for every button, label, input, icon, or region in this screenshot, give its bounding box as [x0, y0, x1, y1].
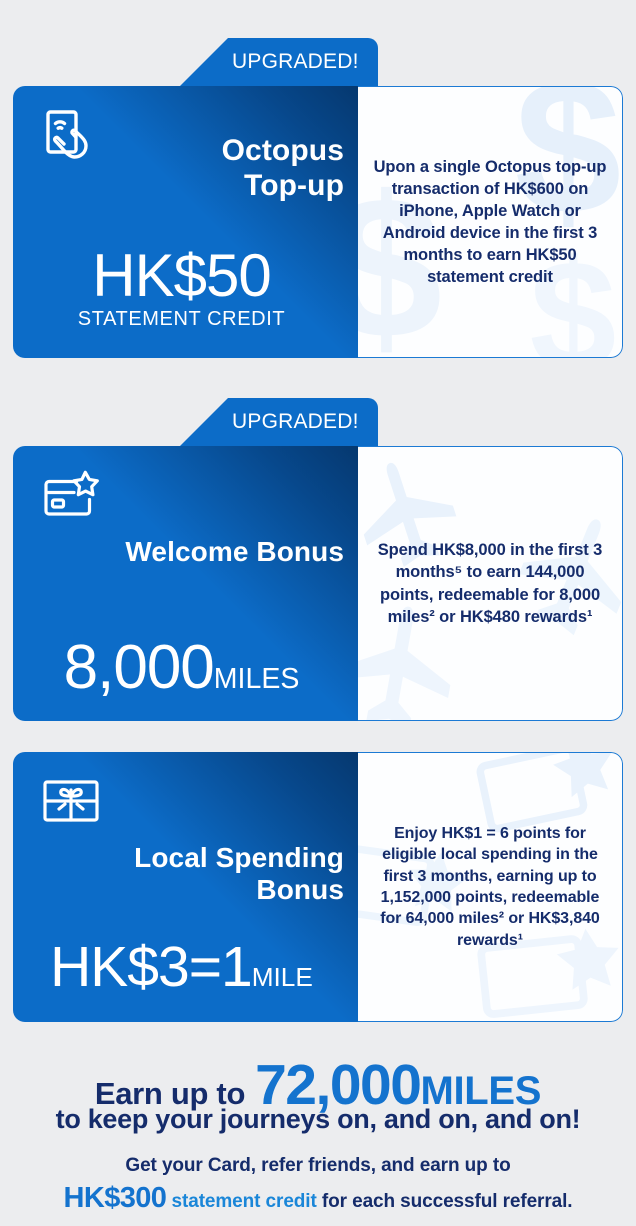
offer-3-description-pane: Enjoy HK$1 = 6 points for eligible local…	[358, 752, 623, 1022]
offer-3-title-line-2: Bonus	[134, 874, 344, 906]
offer-1-title-line-1: Octopus	[222, 134, 344, 169]
footer-referral-line-2: HK$300 statement credit for each success…	[0, 1182, 636, 1215]
offer-1-value: HK$50	[13, 241, 350, 310]
offer-2-title: Welcome Bonus	[125, 536, 344, 568]
footer-referral-line-1: Get your Card, refer friends, and earn u…	[0, 1155, 636, 1177]
offer-3-highlight-pane: Local Spending Bonus HK$3=1MILE	[13, 752, 358, 1022]
offer-3-value: HK$3=1MILE	[13, 934, 350, 1000]
offer-2-value: 8,000MILES	[13, 632, 350, 703]
offer-1-description: Upon a single Octopus top-up transaction…	[358, 156, 622, 289]
offer-card-local-spending-bonus[interactable]: Local Spending Bonus HK$3=1MILE	[13, 752, 623, 1022]
offer-3-title: Local Spending Bonus	[134, 842, 344, 907]
ribbon-label-2: UPGRADED!	[232, 410, 359, 434]
offer-1-subtitle: STATEMENT CREDIT	[13, 308, 350, 331]
footer-referral-credit: statement credit	[172, 1191, 317, 1212]
offer-card-octopus-topup[interactable]: Octopus Top-up HK$50 STATEMENT CREDIT $ …	[13, 86, 623, 358]
offer-3-value-text: HK$3=1	[50, 935, 252, 999]
offer-1-value-text: HK$50	[92, 242, 270, 309]
offer-1-title: Octopus Top-up	[222, 134, 344, 204]
ribbon-upgraded-1: UPGRADED!	[180, 38, 378, 86]
offer-1-title-line-2: Top-up	[222, 169, 344, 204]
footer-referral-suffix: for each successful referral.	[322, 1191, 573, 1212]
offer-1-description-pane: $ $ $ Upon a single Octopus top-up trans…	[358, 86, 623, 358]
offer-3-title-line-1: Local Spending	[134, 842, 344, 874]
footer-referral-line-1-wrap: Get your Card, refer friends, and earn u…	[0, 1155, 636, 1177]
ribbon-upgraded-2: UPGRADED!	[180, 398, 378, 446]
offer-2-title-line-1: Welcome Bonus	[125, 536, 344, 568]
offer-1-highlight-pane: Octopus Top-up HK$50 STATEMENT CREDIT	[13, 86, 358, 358]
footer-referral-line-2-wrap: HK$300 statement credit for each success…	[0, 1182, 636, 1215]
offer-2-description: Spend HK$8,000 in the first 3 months⁵ to…	[358, 539, 622, 627]
offer-2-description-pane: Spend HK$8,000 in the first 3 months⁵ to…	[358, 446, 623, 721]
promo-page: UPGRADED! Octopus Top-up	[0, 0, 636, 1226]
offer-2-highlight-pane: Welcome Bonus 8,000MILES	[13, 446, 358, 721]
ribbon-label-1: UPGRADED!	[232, 50, 359, 74]
offer-card-welcome-bonus[interactable]: Welcome Bonus 8,000MILES	[13, 446, 623, 721]
footer-tagline-wrap: to keep your journeys on, and on, and on…	[0, 1104, 636, 1135]
offer-2-value-text: 8,000	[64, 633, 214, 702]
offer-3-description: Enjoy HK$1 = 6 points for eligible local…	[358, 823, 622, 952]
footer-earn-tagline: to keep your journeys on, and on, and on…	[0, 1104, 636, 1135]
offer-2-value-suffix: MILES	[214, 663, 300, 695]
footer-referral-amount: HK$300	[64, 1182, 167, 1214]
offer-3-value-suffix: MILE	[252, 962, 313, 992]
